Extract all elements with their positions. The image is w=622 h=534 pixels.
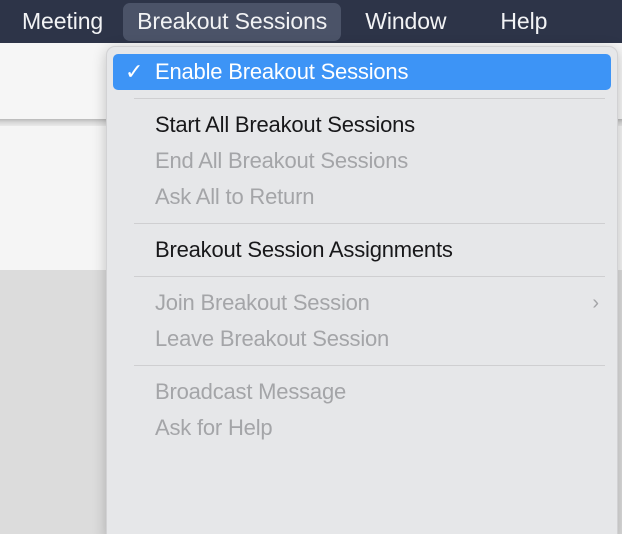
menu-item-label: Join Breakout Session: [155, 290, 592, 316]
menu-item-label: End All Breakout Sessions: [155, 148, 601, 174]
menu-item-join-breakout-session: Join Breakout Session›: [113, 285, 611, 321]
menu-item-label: Breakout Session Assignments: [155, 237, 601, 263]
menu-item-label: Broadcast Message: [155, 379, 601, 405]
menu-separator: [134, 365, 605, 366]
menu-separator: [134, 98, 605, 99]
menu-item-ask-for-help: Ask for Help: [113, 410, 611, 446]
menu-separator: [134, 223, 605, 224]
menu-item-ask-all-to-return: Ask All to Return: [113, 179, 611, 215]
menu-item-end-all-breakout-sessions: End All Breakout Sessions: [113, 143, 611, 179]
menu-item-label: Leave Breakout Session: [155, 326, 601, 352]
menu-item-breakout-session-assignments[interactable]: Breakout Session Assignments: [113, 232, 611, 268]
menu-item-label: Start All Breakout Sessions: [155, 112, 601, 138]
menu-item-start-all-breakout-sessions[interactable]: Start All Breakout Sessions: [113, 107, 611, 143]
menu-item-broadcast-message: Broadcast Message: [113, 374, 611, 410]
menu-bar: MeetingBreakout SessionsWindowHelp: [0, 0, 622, 43]
menubar-item-help[interactable]: Help: [486, 3, 561, 41]
menubar-item-breakout-sessions[interactable]: Breakout Sessions: [123, 3, 341, 41]
menu-item-leave-breakout-session: Leave Breakout Session: [113, 321, 611, 357]
chevron-right-icon: ›: [592, 293, 601, 313]
breakout-sessions-menu: ✓Enable Breakout SessionsStart All Break…: [106, 46, 618, 534]
menu-item-label: Enable Breakout Sessions: [155, 59, 601, 85]
menubar-item-window[interactable]: Window: [351, 3, 460, 41]
menu-item-label: Ask All to Return: [155, 184, 601, 210]
menu-item-enable-breakout-sessions[interactable]: ✓Enable Breakout Sessions: [113, 54, 611, 90]
menu-separator: [134, 276, 605, 277]
menu-item-label: Ask for Help: [155, 415, 601, 441]
menubar-item-meeting[interactable]: Meeting: [8, 3, 117, 41]
checkmark-icon: ✓: [125, 61, 155, 83]
screen: MeetingBreakout SessionsWindowHelp ✓Enab…: [0, 0, 622, 534]
